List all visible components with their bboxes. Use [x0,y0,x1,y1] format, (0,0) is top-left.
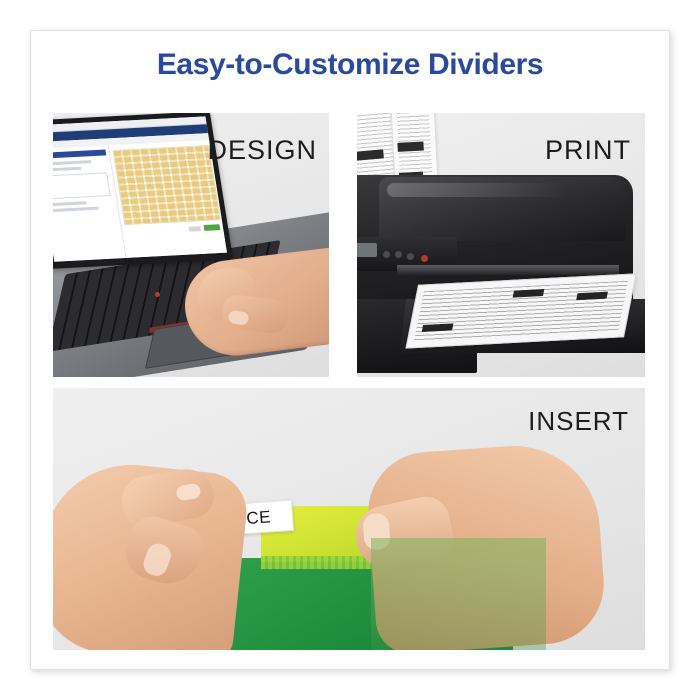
app-form-box [53,172,111,199]
app-workspace [53,140,227,262]
divider-tab-teeth [261,556,381,569]
printer-button[interactable] [395,251,402,258]
laptop-display-content [53,116,227,261]
app-secondary-button [188,226,201,232]
app-form-row [53,167,81,172]
panel-insert: FINANCE INSERT [53,388,645,650]
printer-button[interactable] [407,253,414,260]
hand-holding-divider [364,440,607,650]
thumbnail [362,513,390,551]
printer-lcd-screen [357,243,377,257]
panel-print: PRINT [357,113,645,377]
app-primary-button [203,224,220,231]
hand-holding-label [53,456,250,650]
app-form-row [53,201,87,206]
printer-button[interactable] [383,251,390,258]
panel-insert-label: INSERT [528,406,629,437]
sheet-tab-mark [397,142,423,152]
printer-output-slot [397,265,619,275]
app-label-grid [113,145,221,225]
printer-power-button[interactable] [421,255,428,262]
app-form-header [53,149,107,158]
printer-lid-highlight [387,183,567,197]
panel-print-label: PRINT [545,135,631,166]
panel-design-label: DESIGN [207,135,317,166]
app-form-row [53,160,91,165]
page-title: Easy-to-Customize Dividers [0,48,700,82]
product-feature-image: Easy-to-Customize Dividers [0,0,700,700]
printed-divider-sheet [405,273,636,348]
app-form-row [53,207,99,212]
laptop-screen [53,113,233,269]
panel-design: DESIGN [53,113,329,377]
